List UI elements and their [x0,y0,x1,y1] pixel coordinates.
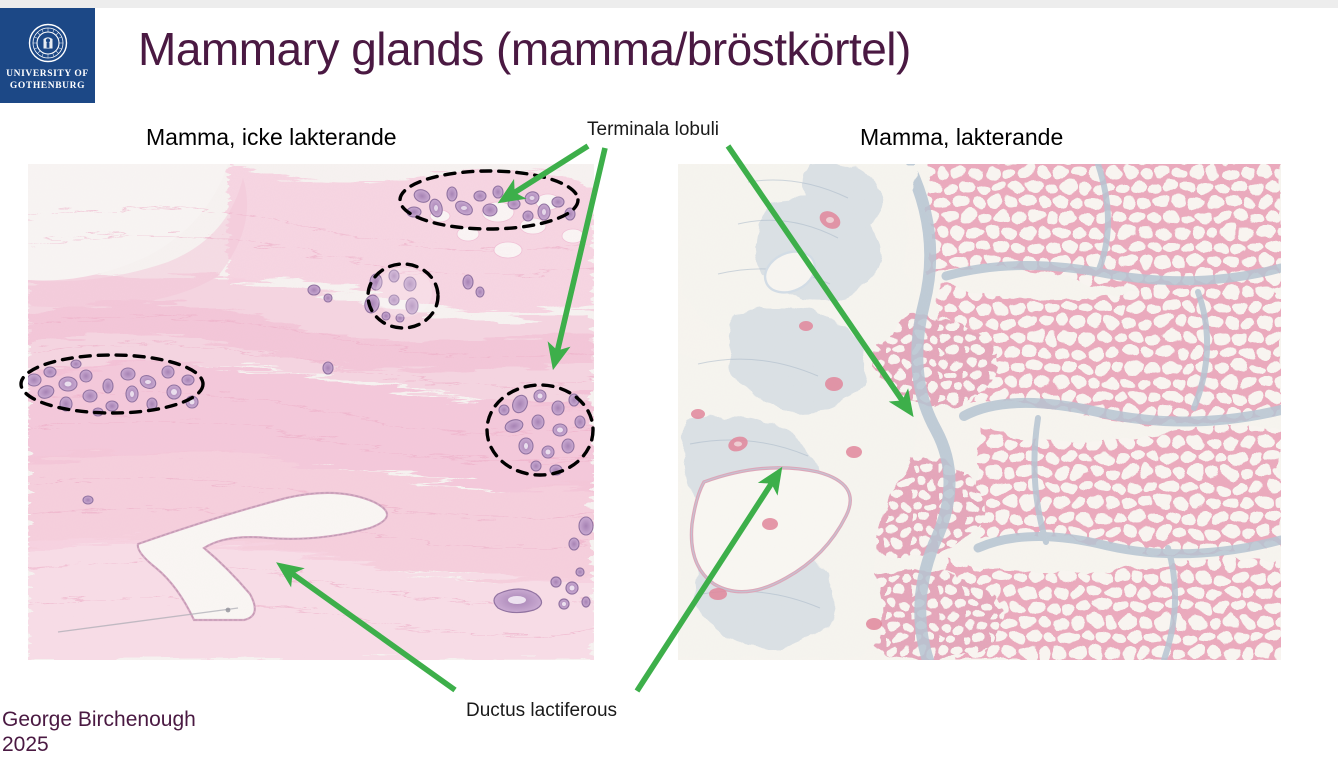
footer-credit: George Birchenough 2025 [2,707,196,757]
footer-year: 2025 [2,732,196,757]
university-seal-icon [28,23,68,63]
top-border-strip [0,0,1338,8]
logo-line-1: UNIVERSITY OF [6,69,89,79]
annotation-label-terminala-lobuli: Terminala lobuli [587,119,719,141]
histology-svg-right [678,164,1281,660]
histology-image-lactating [678,164,1281,660]
university-logo: UNIVERSITY OF GOTHENBURG [0,8,95,103]
panel-caption-right: Mamma, lakterande [860,124,1063,151]
logo-institution-name: UNIVERSITY OF GOTHENBURG [6,68,89,92]
histology-image-non-lactating [28,164,594,660]
annotation-label-ductus-lactiferous: Ductus lactiferous [466,700,617,722]
logo-line-2: GOTHENBURG [10,81,85,91]
histology-svg-left [28,164,594,660]
panel-caption-left: Mamma, icke lakterande [146,124,397,151]
footer-author: George Birchenough [2,707,196,732]
page-title: Mammary glands (mamma/bröstkörtel) [138,22,911,76]
